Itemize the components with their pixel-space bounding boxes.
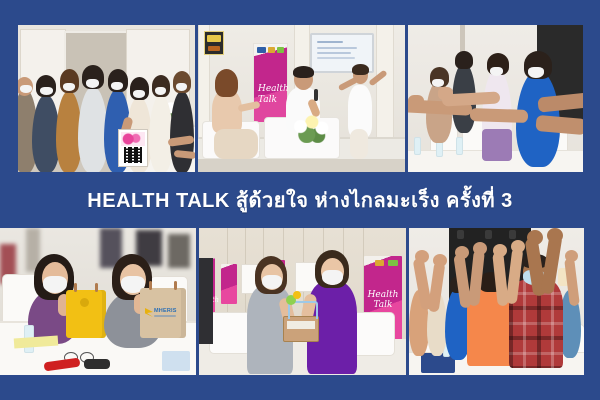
photo-top-left	[18, 25, 195, 173]
photo-bottom-right-exercise	[409, 228, 584, 375]
stage-flower-arrangement	[290, 113, 332, 143]
bm-banner-right-line1: Health	[366, 290, 400, 300]
photo-bottom-left-bags: MHERIS	[0, 228, 196, 375]
banner-line-2: Talk	[258, 95, 284, 106]
yellow-gift-bag	[66, 290, 106, 338]
mheris-tote-bag: MHERIS	[140, 288, 186, 338]
registration-qr-sign	[118, 129, 148, 167]
bm-banner-right-line2: Talk	[366, 300, 400, 310]
gift-basket	[283, 316, 319, 342]
page-title: HEALTH TALK สู้ด้วยใจ ห่างไกลมะเร็ง ครั้…	[87, 184, 512, 216]
health-talk-banner-stage: Health Talk	[253, 43, 288, 123]
photo-bottom-middle-award: Health Health Talk	[199, 228, 406, 375]
poster-root: Health Talk	[0, 0, 600, 400]
banner-line-1: Health	[258, 84, 284, 95]
top-award-sign	[204, 31, 224, 55]
photo-top-middle-stage: Health Talk	[198, 25, 405, 173]
title-band: HEALTH TALK สู้ด้วยใจ ห่างไกลมะเร็ง ครั้…	[0, 172, 600, 228]
tote-brand-label: MHERIS	[154, 308, 183, 314]
photo-top-right-stretching	[408, 25, 583, 173]
